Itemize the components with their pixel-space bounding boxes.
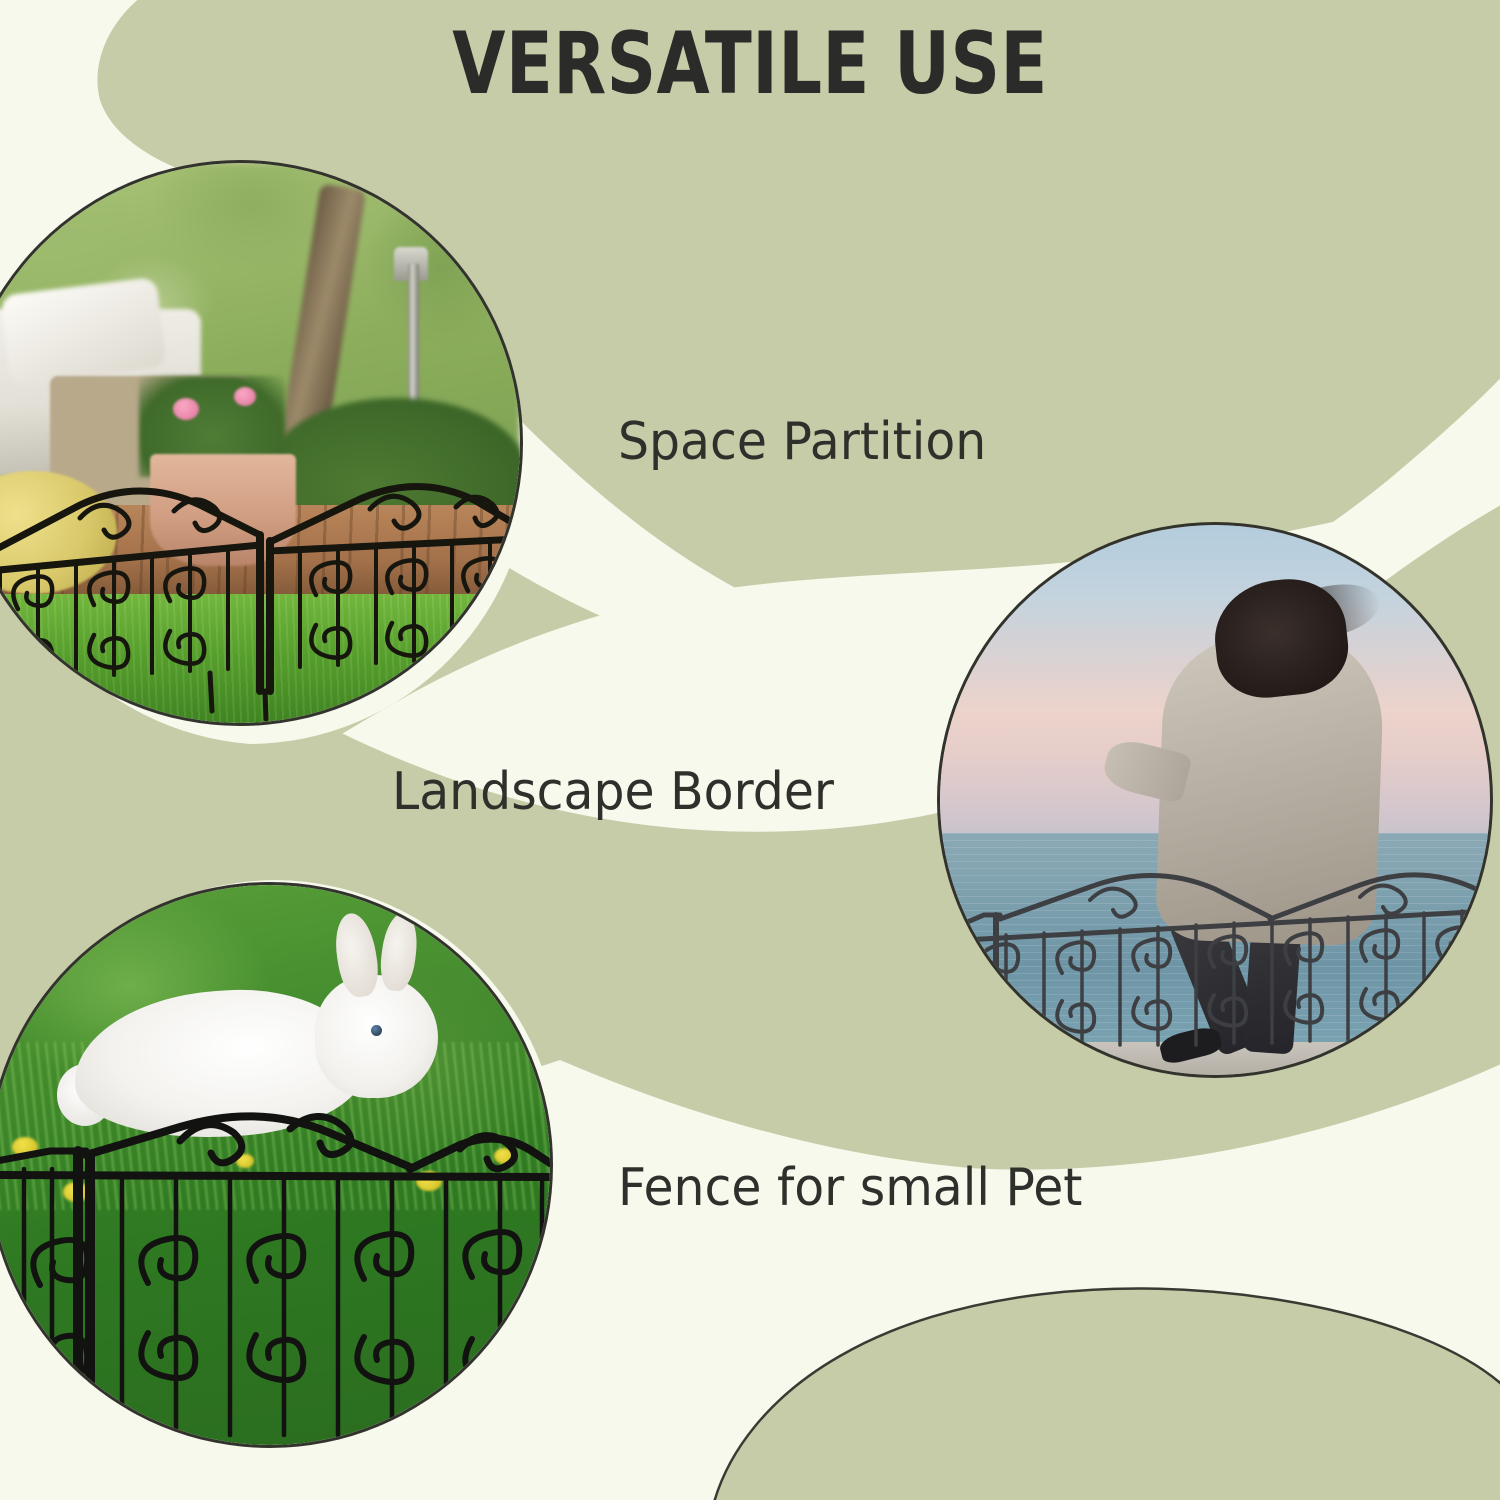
- decorative-fence-overlay-3: [0, 1105, 550, 1445]
- photo-patio-with-decorative-fence: [0, 163, 520, 723]
- infographic-canvas: VERSATILE USE Space Partition Landscape …: [0, 0, 1500, 1500]
- photo-seaside-woman-with-fence: [940, 525, 1490, 1075]
- photo-collection: [0, 0, 1500, 1500]
- decorative-fence-overlay-2: [940, 845, 1490, 1075]
- decorative-fence-overlay-1: [0, 423, 520, 723]
- photo-white-rabbit-behind-fence: [0, 885, 550, 1445]
